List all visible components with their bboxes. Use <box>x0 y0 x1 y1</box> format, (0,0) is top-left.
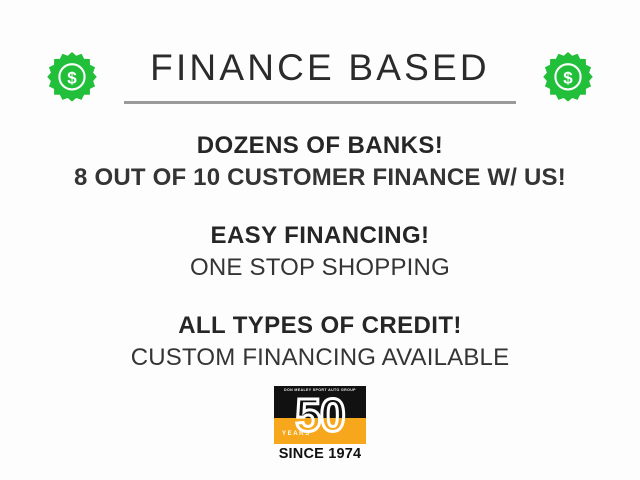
copy-subline: CUSTOM FINANCING AVAILABLE <box>0 342 640 374</box>
copy-subline: ONE STOP SHOPPING <box>0 252 640 284</box>
copy-headline: EASY FINANCING! <box>0 220 640 252</box>
anniversary-badge: DON MEALEY SPORT AUTO GROUP 50 YEARS <box>274 386 366 444</box>
copy-block: EASY FINANCING! ONE STOP SHOPPING <box>0 220 640 284</box>
body-copy: DOZENS OF BANKS! 8 OUT OF 10 CUSTOMER FI… <box>0 130 640 373</box>
logo-group-name: DON MEALEY SPORT AUTO GROUP <box>274 389 366 393</box>
page-title: FINANCE BASED <box>150 49 490 88</box>
title-divider <box>124 101 516 104</box>
logo-years-label: YEARS <box>282 431 311 437</box>
finance-based-slide: $ FINANCE BASED $ DOZENS OF BANKS! 8 OUT… <box>0 0 640 480</box>
dealership-logo: DON MEALEY SPORT AUTO GROUP 50 YEARS SIN… <box>272 386 368 462</box>
copy-headline: DOZENS OF BANKS! <box>0 130 640 162</box>
title-wrap: FINANCE BASED <box>120 49 520 104</box>
logo-since-text: SINCE 1974 <box>279 447 362 462</box>
copy-block: ALL TYPES OF CREDIT! CUSTOM FINANCING AV… <box>0 310 640 374</box>
svg-text:$: $ <box>563 69 573 88</box>
copy-headline: ALL TYPES OF CREDIT! <box>0 310 640 342</box>
copy-block: DOZENS OF BANKS! 8 OUT OF 10 CUSTOMER FI… <box>0 130 640 194</box>
gear-dollar-icon: $ <box>542 50 594 102</box>
svg-text:$: $ <box>67 69 77 88</box>
header: $ FINANCE BASED $ <box>0 40 640 112</box>
gear-dollar-icon: $ <box>46 50 98 102</box>
copy-subline: 8 OUT OF 10 CUSTOMER FINANCE W/ US! <box>0 162 640 194</box>
